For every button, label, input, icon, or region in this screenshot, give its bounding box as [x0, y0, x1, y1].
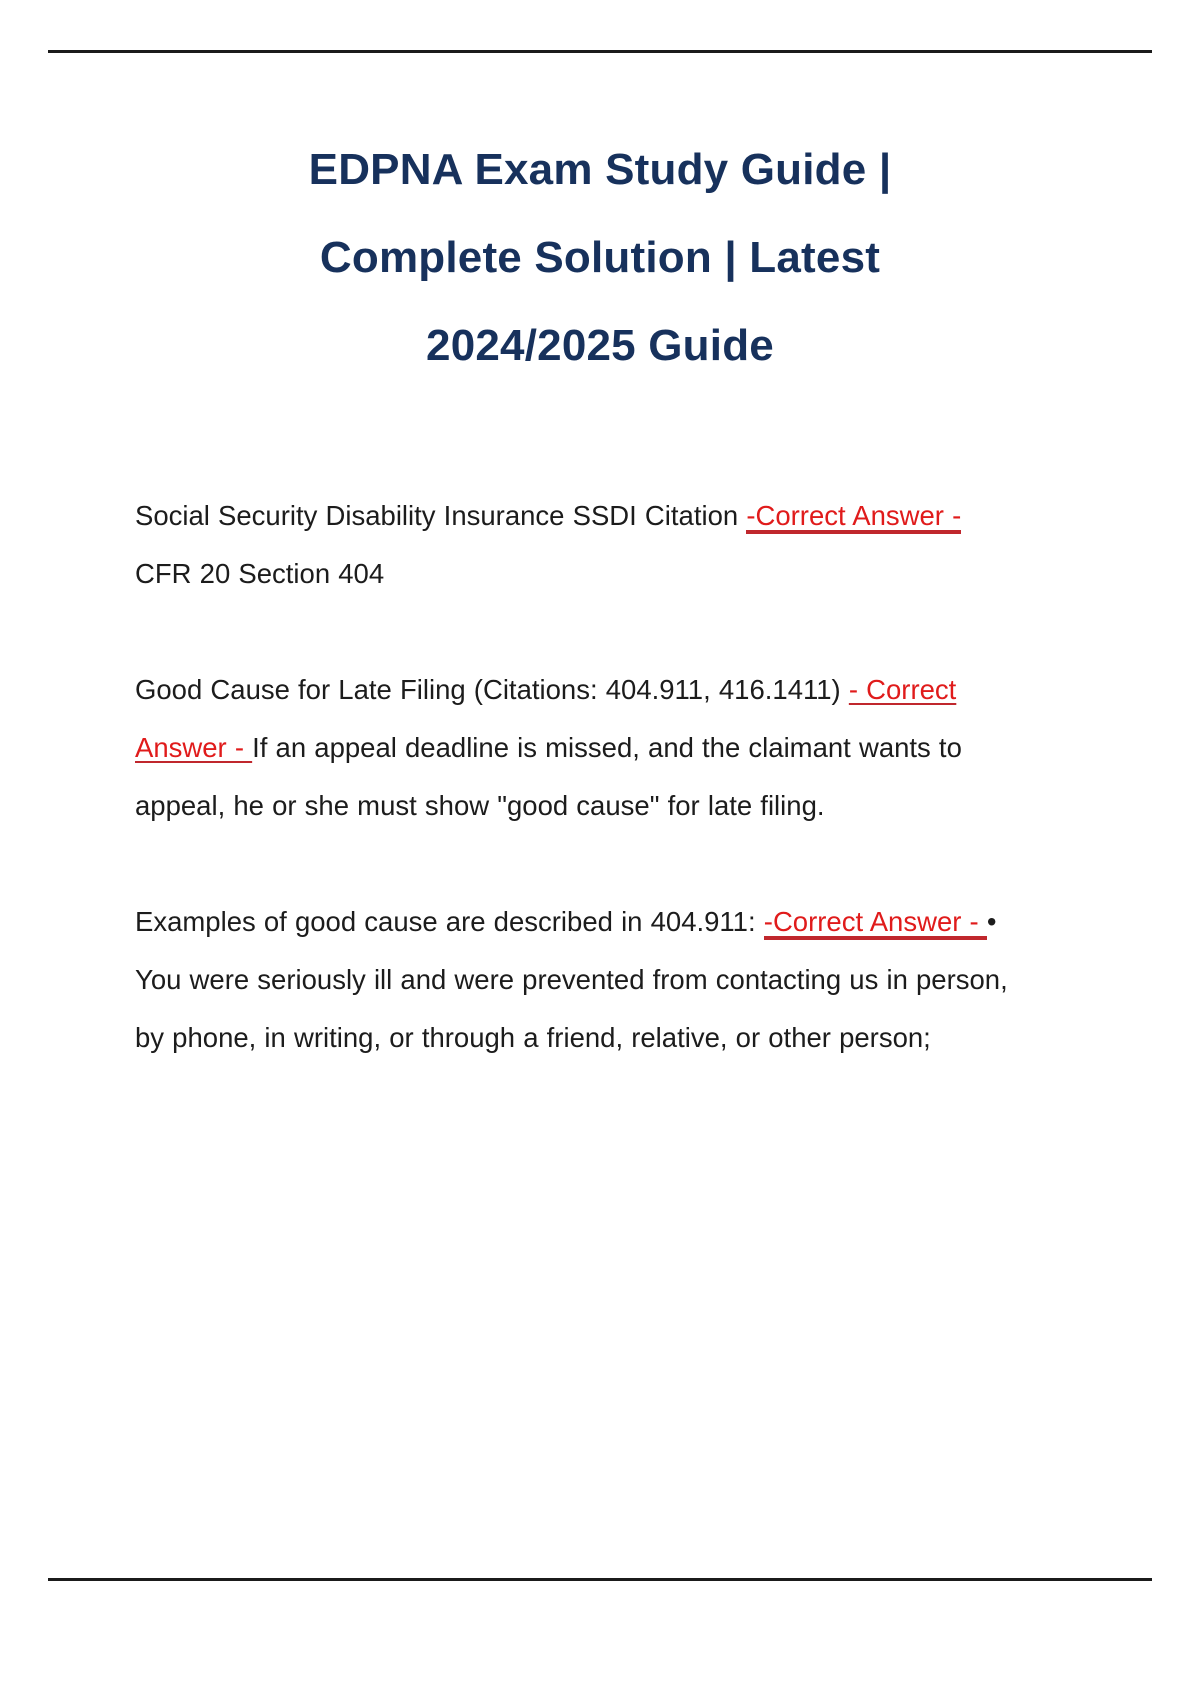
- page-title-line-2: Complete Solution | Latest: [150, 214, 1050, 302]
- page-title-line-1: EDPNA Exam Study Guide |: [150, 126, 1050, 214]
- page-top-rule: [48, 50, 1152, 53]
- correct-answer-marker: Correct Answer -: [755, 500, 961, 534]
- page-title: EDPNA Exam Study Guide | Complete Soluti…: [150, 126, 1050, 390]
- document-page: EDPNA Exam Study Guide | Complete Soluti…: [0, 0, 1200, 1700]
- qa-answer: If an appeal deadline is missed, and the…: [135, 732, 962, 821]
- document-body: Social Security Disability Insurance SSD…: [135, 487, 1025, 1067]
- qa-answer: CFR 20 Section 404: [135, 558, 384, 589]
- qa-entry: Good Cause for Late Filing (Citations: 4…: [135, 661, 1025, 835]
- page-bottom-rule: [48, 1578, 1152, 1581]
- qa-prompt: Examples of good cause are described in …: [135, 906, 764, 937]
- correct-answer-marker: Correct Answer -: [773, 906, 987, 940]
- qa-prompt: Social Security Disability Insurance SSD…: [135, 500, 746, 531]
- correct-answer-marker-head: -: [764, 906, 773, 940]
- qa-entry: Social Security Disability Insurance SSD…: [135, 487, 1025, 603]
- page-title-line-3: 2024/2025 Guide: [150, 302, 1050, 390]
- qa-prompt: Good Cause for Late Filing (Citations: 4…: [135, 674, 849, 705]
- qa-entry: Examples of good cause are described in …: [135, 893, 1025, 1067]
